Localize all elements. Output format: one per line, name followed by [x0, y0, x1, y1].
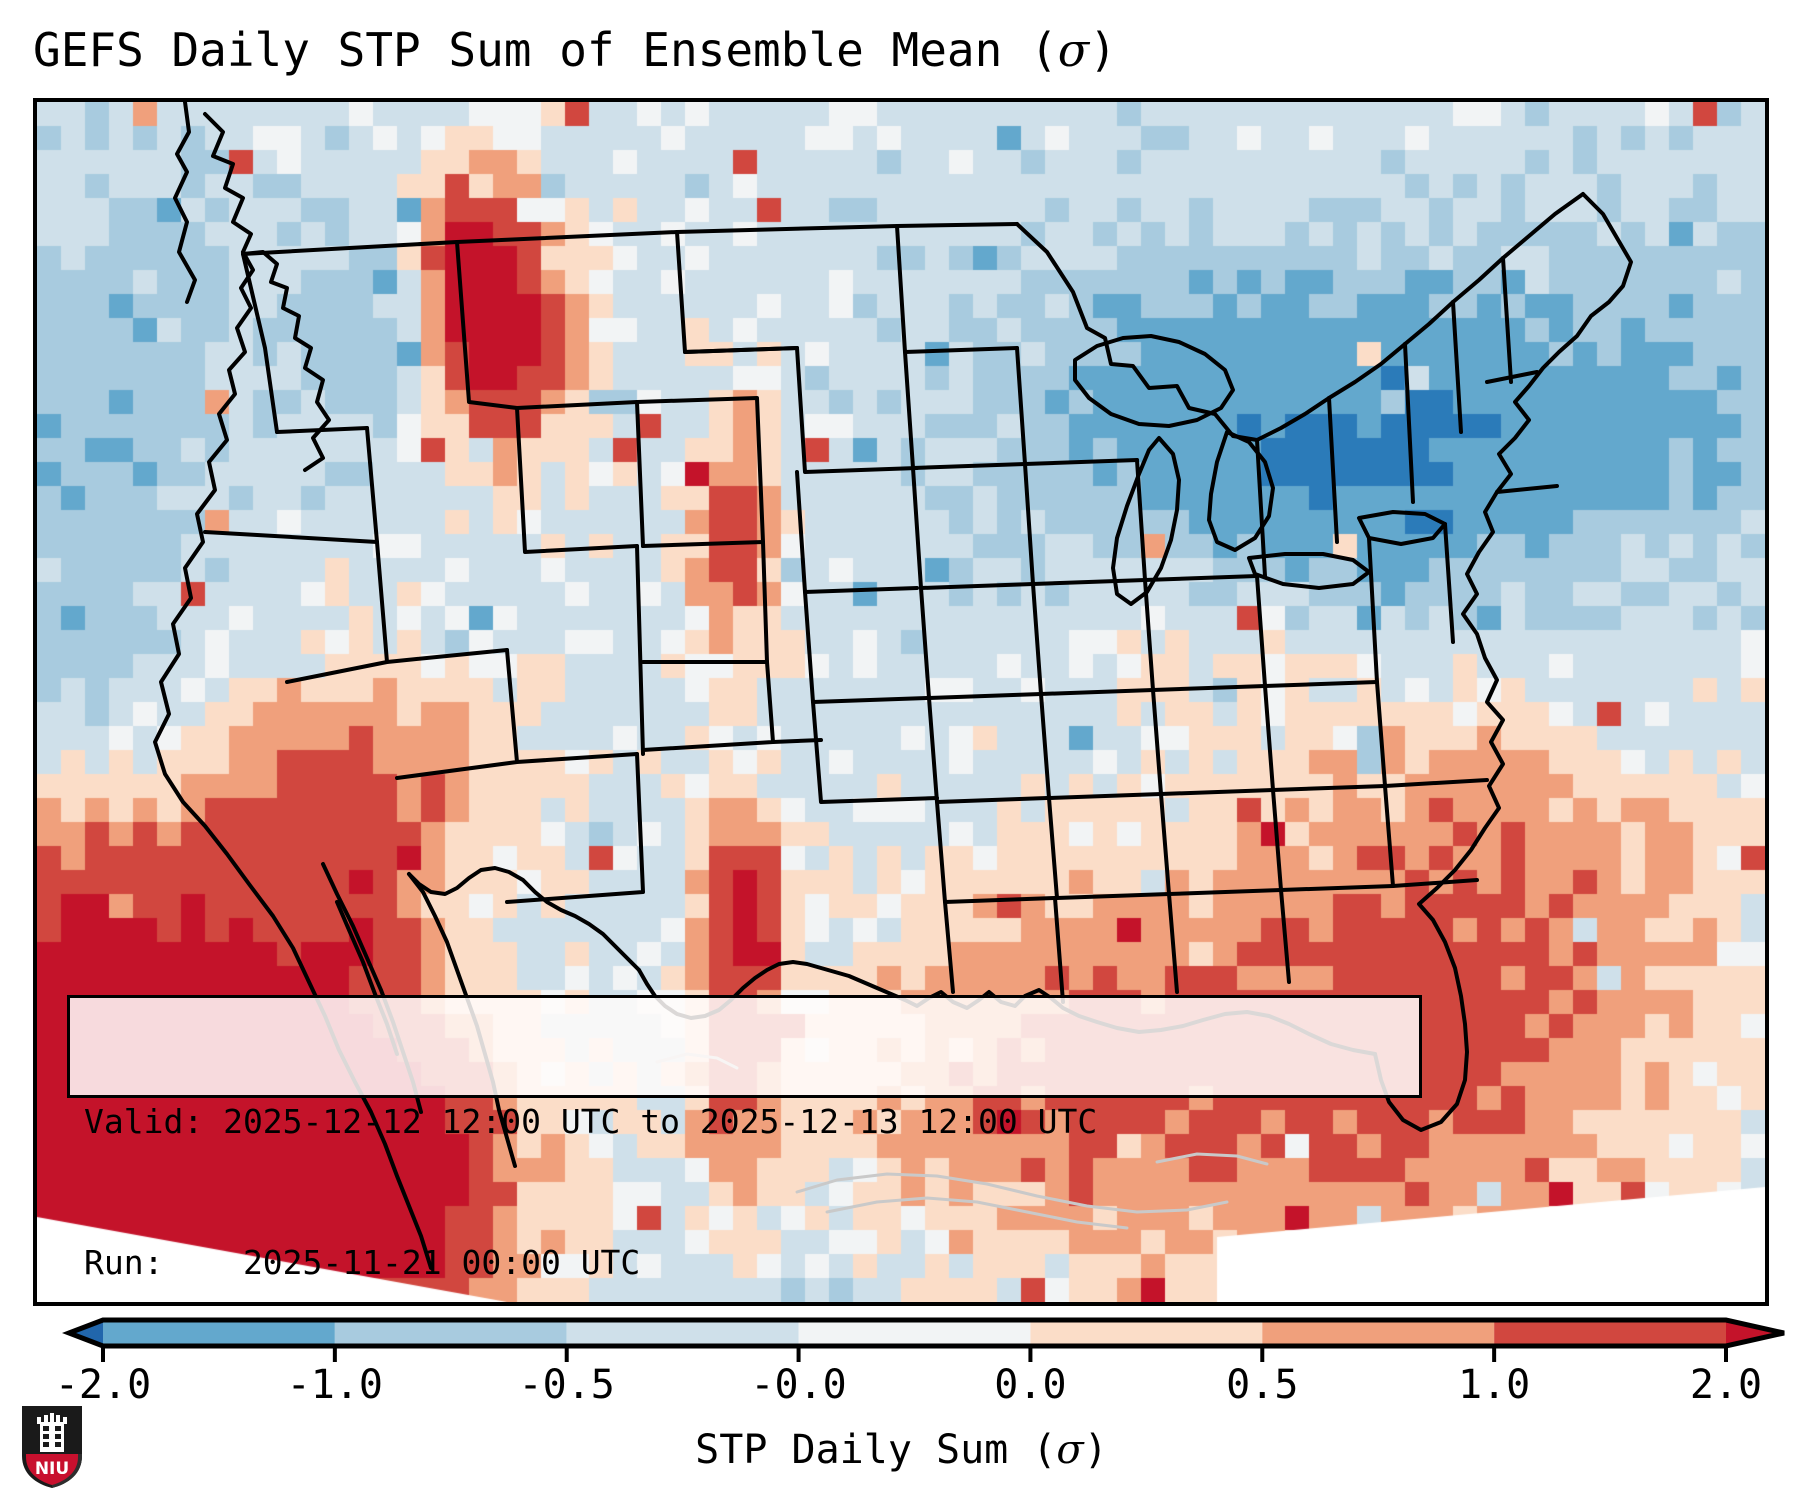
geo-boundary-path: [1445, 524, 1453, 642]
colorbar-tick-label: 0.0: [994, 1360, 1066, 1410]
colorbar-label-suffix: ): [1084, 1427, 1108, 1473]
geo-boundary-path: [387, 650, 507, 662]
geo-boundary-path: [1145, 580, 1265, 690]
geo-boundary-path: [905, 352, 1025, 468]
geo-boundary-path: [517, 402, 643, 546]
geo-boundary-path: [1329, 398, 1337, 542]
geo-boundary-path: [637, 398, 763, 542]
geo-boundary-path: [243, 224, 1017, 254]
colorbar-segment: [1494, 1320, 1726, 1346]
geo-boundary-path: [1169, 894, 1177, 992]
geo-boundary-path: [1017, 194, 1583, 440]
colorbar-segment: [103, 1320, 335, 1346]
geo-boundary-path: [287, 542, 387, 682]
colorbar-segment: [567, 1320, 799, 1346]
geo-boundary-path: [1153, 690, 1273, 794]
geo-boundary-path: [397, 650, 517, 778]
geo-boundary-path: [773, 740, 821, 742]
geo-boundary-path: [677, 232, 797, 352]
geo-boundary-path: [685, 348, 797, 352]
annotation-run-line: Run: 2025-11-21 00:00 UTC: [84, 1239, 1405, 1286]
niu-logo: NIU: [20, 1404, 84, 1490]
geo-boundary-path: [1359, 512, 1445, 544]
map-axes: Valid: 2025-12-12 12:00 UTC to 2025-12-1…: [33, 98, 1769, 1306]
colorbar-tick-label: -1.0: [287, 1360, 383, 1410]
geo-boundary-path: [1281, 890, 1289, 982]
geo-boundary-path: [1385, 786, 1477, 886]
colorbar-tick-label: 1.0: [1458, 1360, 1530, 1410]
geo-boundary-path: [1369, 538, 1377, 682]
geo-boundary-path: [277, 428, 367, 432]
geo-boundary-path: [517, 754, 637, 762]
geo-boundary-path: [797, 472, 917, 592]
geo-boundary-path: [637, 546, 643, 754]
geo-boundary-path: [1055, 898, 1063, 1002]
geo-boundary-path: [813, 702, 937, 802]
geo-boundary-path: [1025, 464, 1145, 584]
colorbar-tick-label: 2.0: [1690, 1360, 1762, 1410]
geo-boundary-path: [367, 428, 377, 542]
geo-boundary-path: [1049, 798, 1169, 898]
title-sigma-symbol: σ: [1058, 23, 1089, 77]
valid-run-annotation-box: Valid: 2025-12-12 12:00 UTC to 2025-12-1…: [67, 995, 1422, 1098]
geo-boundary-path: [1265, 686, 1385, 790]
geo-boundary-path: [643, 662, 773, 750]
geo-boundary-path: [913, 468, 1033, 588]
colorbar-axis-label: STP Daily Sum (σ): [0, 1422, 1803, 1478]
geo-boundary-path: [805, 592, 927, 702]
title-text-prefix: GEFS Daily STP Sum of Ensemble Mean (: [33, 23, 1058, 77]
geo-boundary-path: [1497, 486, 1557, 492]
geo-boundary-path: [937, 802, 1055, 902]
annotation-valid-line: Valid: 2025-12-12 12:00 UTC to 2025-12-1…: [84, 1098, 1405, 1145]
colorbar-segment: [1262, 1320, 1494, 1346]
colorbar-tick-label: 0.5: [1226, 1360, 1298, 1410]
geo-boundary-path: [1249, 554, 1369, 588]
geo-boundary-path: [205, 532, 377, 542]
geo-boundary-path: [517, 408, 637, 552]
colorbar-label-sigma: σ: [1056, 1427, 1083, 1473]
colorbar-tick-label: -0.0: [750, 1360, 846, 1410]
title-text-suffix: ): [1089, 23, 1117, 77]
geo-boundary-path: [205, 114, 251, 252]
colorbar-tick-label: -0.5: [519, 1360, 615, 1410]
geo-boundary-path: [929, 698, 1047, 802]
geo-boundary-path: [945, 902, 953, 992]
geo-boundary-path: [175, 102, 195, 302]
geo-boundary-path: [1503, 258, 1511, 382]
geo-boundary-path: [1161, 794, 1281, 894]
geo-boundary-path: [921, 588, 1041, 698]
geo-boundary-path: [1377, 682, 1487, 786]
geo-boundary-path: [1075, 336, 1233, 426]
niu-logo-text: NIU: [35, 1459, 69, 1479]
geo-boundary-path: [1453, 302, 1461, 432]
geo-boundary-path: [409, 868, 639, 970]
geo-boundary-path: [797, 348, 917, 472]
geo-boundary-path: [643, 542, 767, 662]
geo-boundary-path: [1273, 790, 1393, 890]
geo-boundary-path: [897, 226, 1017, 352]
colorbar-segment: [1030, 1320, 1262, 1346]
geo-boundary-path: [507, 754, 643, 902]
page-title: GEFS Daily STP Sum of Ensemble Mean (σ): [33, 14, 1773, 86]
colorbar-label-prefix: STP Daily Sum (: [695, 1427, 1056, 1473]
geo-boundary-path: [457, 242, 517, 408]
geo-boundary-path: [1041, 694, 1161, 798]
colorbar-tick-labels: -2.0-1.0-0.5-0.00.00.51.02.0: [0, 1360, 1803, 1420]
colorbar-tick-label: -2.0: [55, 1360, 151, 1410]
colorbar-segment: [335, 1320, 567, 1346]
geo-boundary-path: [1137, 460, 1257, 580]
geo-boundary-path: [1405, 344, 1413, 502]
geo-boundary-path: [243, 252, 329, 470]
colorbar-segment: [799, 1320, 1031, 1346]
geo-boundary-path: [1257, 576, 1377, 686]
